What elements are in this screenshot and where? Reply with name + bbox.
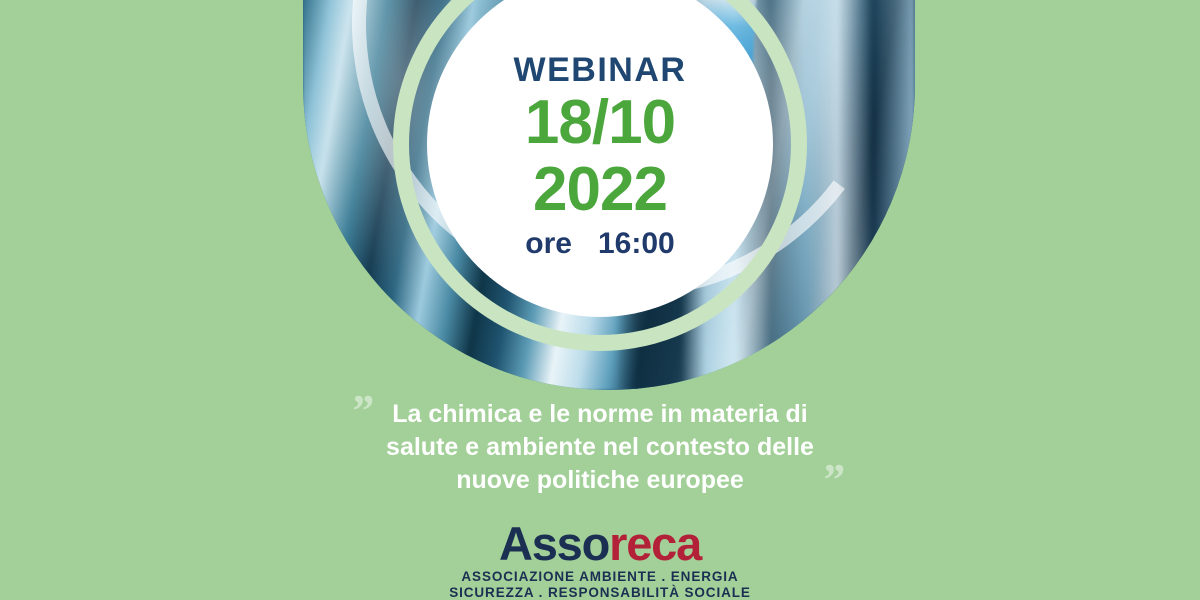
assoreca-logo: Assoreca ASSOCIAZIONE AMBIENTE . ENERGIA… (0, 520, 1200, 600)
quote-open-mark-icon: ” (350, 388, 373, 434)
quote-block: ” La chimica e le norme in materia di sa… (0, 398, 1200, 497)
date-year: 2022 (533, 158, 667, 221)
quote-text: La chimica e le norme in materia di salu… (386, 398, 814, 497)
logo-wordmark-part1: Asso (499, 517, 609, 570)
logo-tagline: ASSOCIAZIONE AMBIENTE . ENERGIA SICUREZZ… (0, 569, 1200, 600)
quote-inner: ” La chimica e le norme in materia di sa… (386, 398, 814, 497)
logo-wordmark: Assoreca (0, 520, 1200, 567)
quote-line-3: nuove politiche europee (386, 464, 814, 497)
time-value: 16:00 (598, 227, 675, 261)
webinar-label: WEBINAR (514, 53, 687, 87)
quote-line-2: salute e ambiente nel contesto delle (386, 431, 814, 464)
webinar-poster: 75 WEBINAR 18/10 2022 ore 16:00 ” La chi… (0, 0, 1200, 600)
quote-close-mark-icon: ” (821, 457, 844, 503)
time-prefix-label: ore (525, 227, 572, 261)
logo-tagline-line-2: SICUREZZA . RESPONSABILITÀ SOCIALE (0, 585, 1200, 600)
quote-line-1: La chimica e le norme in materia di (386, 398, 814, 431)
logo-wordmark-part2: reca (609, 517, 701, 570)
logo-tagline-line-1: ASSOCIAZIONE AMBIENTE . ENERGIA (0, 569, 1200, 585)
time-row: ore 16:00 (525, 227, 674, 261)
date-day-month: 18/10 (525, 91, 675, 154)
